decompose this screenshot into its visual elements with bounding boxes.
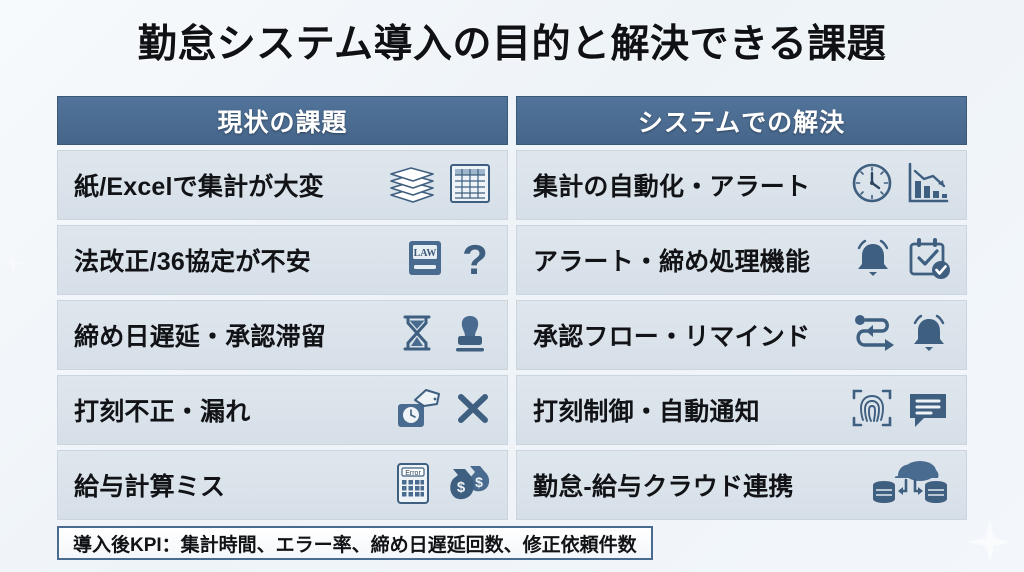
slide-canvas: 勤怠システム導入の目的と解決できる課題 現状の課題 紙/Excelで集計が大変 <box>0 0 1024 572</box>
row-label: 締め日遅延・承認滞留 <box>74 317 326 353</box>
column-header-current-issues: 現状の課題 <box>57 96 508 145</box>
bell-icon <box>906 309 952 362</box>
question-mark-icon: ? <box>457 234 493 287</box>
chat-bubble-icon <box>904 384 952 437</box>
table-row[interactable]: アラート・締め処理機能 <box>516 225 967 295</box>
table-row[interactable]: 紙/Excelで集計が大変 <box>57 150 508 220</box>
row-label: アラート・締め処理機能 <box>533 242 810 278</box>
svg-text:?: ? <box>462 236 488 282</box>
row-label: 打刻制御・自動通知 <box>533 392 760 428</box>
row-label: 紙/Excelで集計が大変 <box>74 167 324 203</box>
law-book-icon: LAW <box>401 234 449 287</box>
row-label: 法改正/36協定が不安 <box>74 242 311 278</box>
time-clock-hand-icon <box>393 384 445 437</box>
table-row[interactable]: 締め日遅延・承認滞留 <box>57 300 508 370</box>
table-row[interactable]: 承認フロー・リマインド <box>516 300 967 370</box>
sparkle-small-icon <box>0 250 26 276</box>
calculator-error-icon: Error <box>391 459 435 512</box>
row-icon-group <box>848 159 952 212</box>
bell-icon <box>850 234 896 287</box>
row-label: 集計の自動化・アラート <box>533 167 810 203</box>
row-label: 給与計算ミス <box>74 467 225 503</box>
fingerprint-scan-icon <box>848 384 896 437</box>
column-header-system-solutions: システムでの解決 <box>516 96 967 145</box>
row-icon-group: Error <box>391 459 493 512</box>
row-icon-group <box>848 384 952 437</box>
row-label: 打刻不正・漏れ <box>74 392 250 428</box>
row-icon-group <box>850 234 952 287</box>
wall-clock-icon <box>848 159 896 212</box>
approval-stamp-icon <box>447 309 493 362</box>
column-current-issues: 現状の課題 紙/Excelで集計が大変 <box>57 96 508 520</box>
row-icon-group <box>395 309 493 362</box>
money-bags-icon: $ $ <box>443 459 493 512</box>
cloud-database-sync-icon <box>868 458 952 513</box>
hourglass-icon <box>395 309 439 362</box>
spreadsheet-icon <box>447 159 493 212</box>
workflow-arrow-icon <box>846 309 898 362</box>
kpi-footer-text: 導入後KPI：集計時間、エラー率、締め日遅延回数、修正依頼件数 <box>73 530 637 557</box>
paper-stack-icon <box>385 159 439 212</box>
sparkle-icon <box>966 518 1014 566</box>
svg-text:$: $ <box>457 479 466 496</box>
svg-text:$: $ <box>475 474 483 490</box>
column-system-solutions: システムでの解決 集計の自動化・アラート <box>516 96 967 520</box>
row-icon-group <box>846 309 952 362</box>
row-icon-group <box>393 384 493 437</box>
cross-x-icon <box>453 384 493 437</box>
declining-bar-chart-icon <box>904 159 952 212</box>
kpi-footer-note: 導入後KPI：集計時間、エラー率、締め日遅延回数、修正依頼件数 <box>57 526 653 560</box>
law-book-label: LAW <box>414 248 437 259</box>
table-row[interactable]: 勤怠-給与クラウド連携 <box>516 450 967 520</box>
table-row[interactable]: 法改正/36協定が不安 LAW ? <box>57 225 508 295</box>
comparison-table: 現状の課題 紙/Excelで集計が大変 <box>57 96 967 520</box>
row-icon-group <box>385 159 493 212</box>
table-row[interactable]: 打刻不正・漏れ <box>57 375 508 445</box>
table-row[interactable]: 給与計算ミス Error <box>57 450 508 520</box>
row-label: 勤怠-給与クラウド連携 <box>533 467 794 503</box>
row-icon-group <box>868 458 952 513</box>
row-label: 承認フロー・リマインド <box>533 317 810 353</box>
table-row[interactable]: 打刻制御・自動通知 <box>516 375 967 445</box>
page-title: 勤怠システム導入の目的と解決できる課題 <box>0 0 1024 67</box>
calendar-check-icon <box>904 234 952 287</box>
table-row[interactable]: 集計の自動化・アラート <box>516 150 967 220</box>
calculator-display-label: Error <box>405 470 421 477</box>
row-icon-group: LAW ? <box>401 234 493 287</box>
